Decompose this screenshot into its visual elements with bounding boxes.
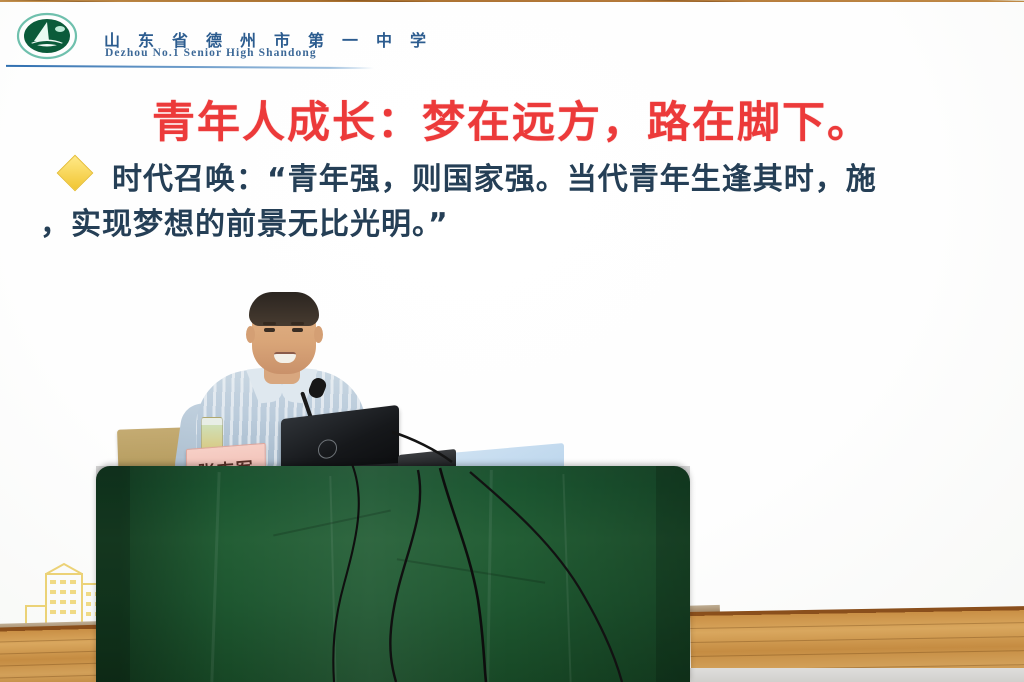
speaker-ear-right — [314, 326, 323, 343]
speaker-brow-left — [263, 322, 276, 325]
speaker-brow-right — [291, 322, 304, 325]
speaker-hair — [249, 292, 319, 326]
school-emblem-icon — [16, 11, 78, 61]
slide-header: 山 东 省 德 州 市 第 一 中 学 Dezhou No.1 Senior H… — [0, 2, 1024, 68]
speaker-eye-right — [292, 328, 303, 332]
speaker-eye-left — [264, 328, 275, 332]
slide-title: 青年人成长：梦在远方，路在脚下。 — [0, 88, 1024, 150]
school-name-en: Dezhou No.1 Senior High Shandong — [105, 47, 317, 59]
screenshot-root: 山 东 省 德 州 市 第 一 中 学 Dezhou No.1 Senior H… — [0, 0, 1024, 682]
wall-baseboard — [690, 668, 1024, 682]
dell-logo-icon — [318, 438, 337, 459]
speaker-ear-left — [246, 326, 255, 343]
slide-body-line-2: ，实现梦想的前景无比光明。” — [40, 199, 449, 243]
table-with-green-cloth — [96, 466, 690, 682]
slide-body-line-1: 时代召唤：“青年强，则国家强。当代青年生逢其时，施 — [112, 154, 877, 198]
speaker-mouth — [274, 352, 296, 363]
